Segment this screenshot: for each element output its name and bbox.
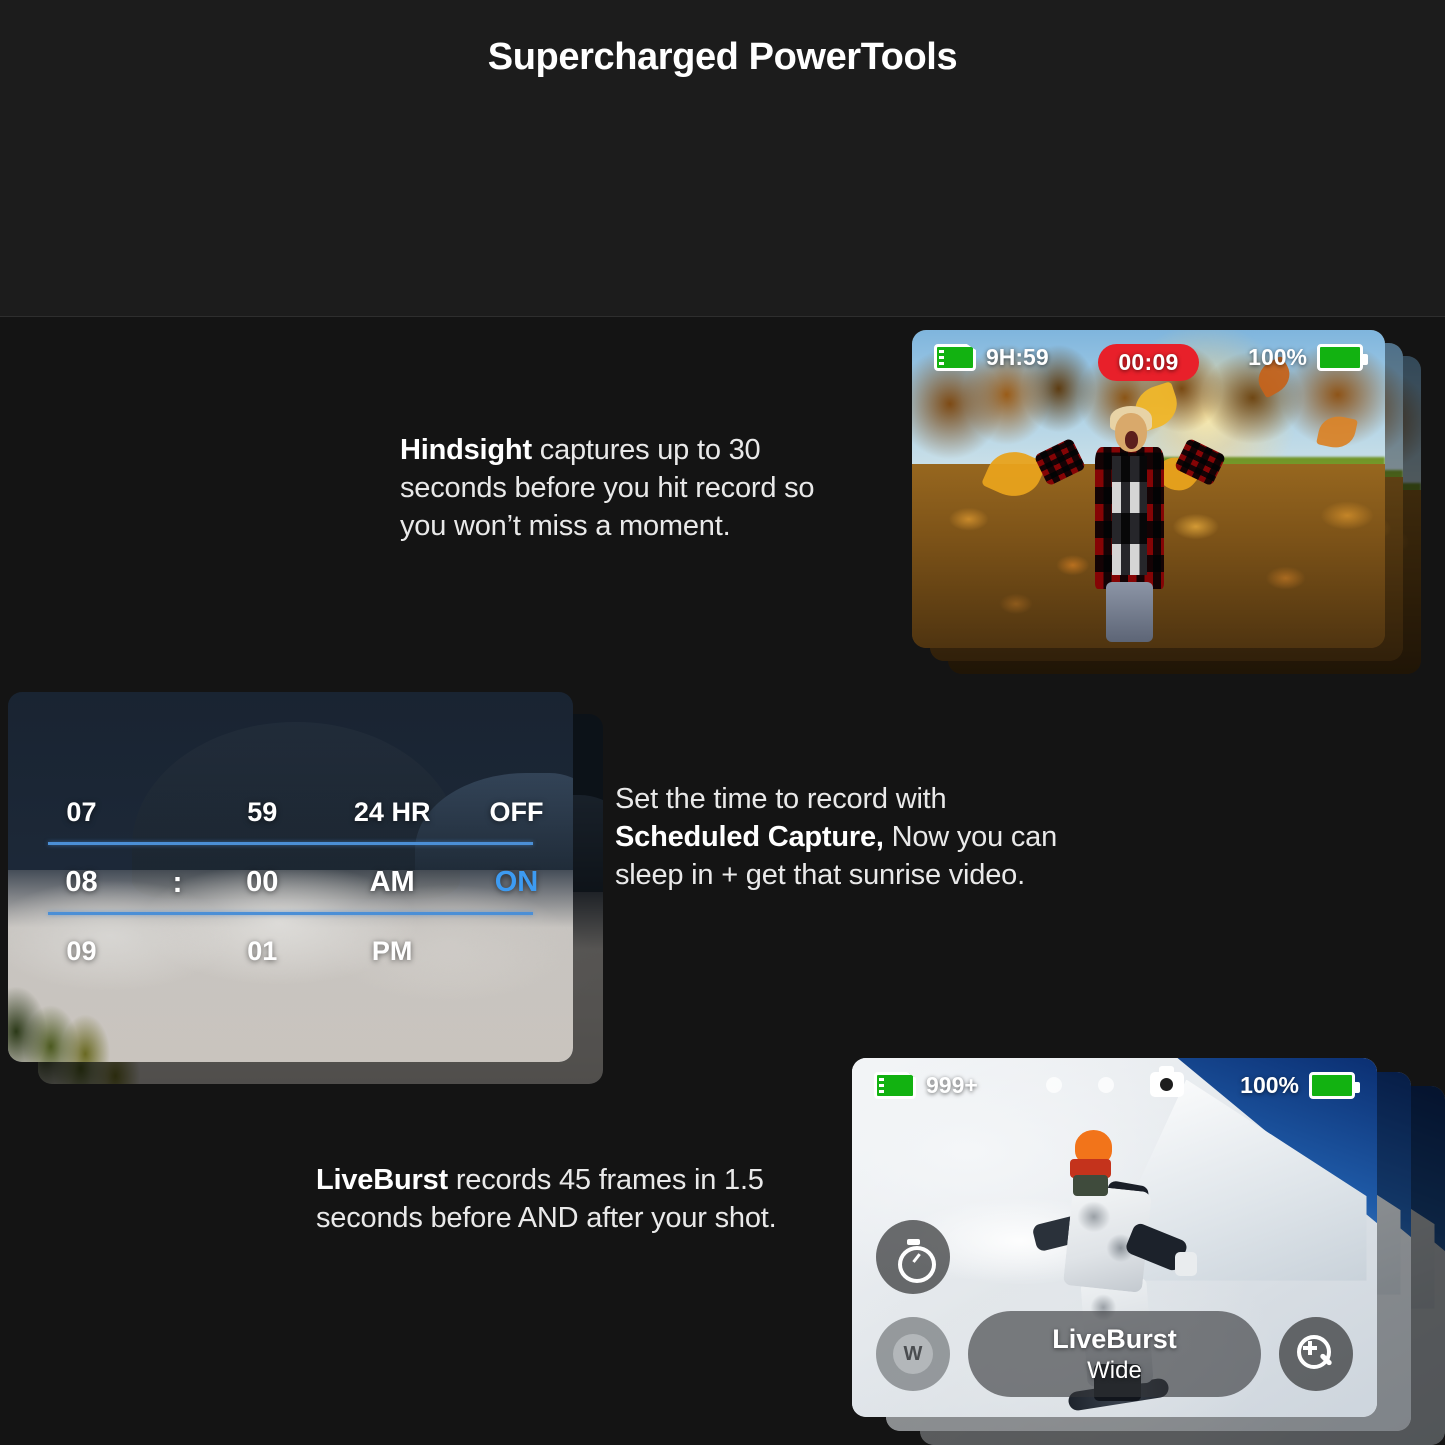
- hindsight-subject: [1068, 413, 1191, 642]
- liveburst-copy-bold: LiveBurst: [316, 1164, 448, 1196]
- header-band: Supercharged PowerTools: [0, 0, 1445, 317]
- capture-mode-subtitle: Wide: [1087, 1357, 1142, 1385]
- record-timer-badge: 00:09: [1098, 344, 1198, 381]
- hindsight-hud-top-bar: 9H:59 100% 00:09: [912, 330, 1385, 371]
- scheduled-capture-card-stack: 07 59 24 HR OFF 08 : 00 AM ON 09: [8, 692, 608, 1072]
- mode-dot-1-icon: [1046, 1077, 1062, 1093]
- picker-toggle-selected[interactable]: ON: [460, 866, 573, 899]
- picker-hour-selected[interactable]: 08: [8, 866, 155, 899]
- capture-mode-title: LiveBurst: [1052, 1324, 1177, 1355]
- liveburst-hud-bottom-bar: W LiveBurst Wide: [852, 1311, 1377, 1397]
- hindsight-copy: Hindsight captures up to 30 seconds befo…: [400, 431, 860, 545]
- liveburst-card-stack: 999+ 100%: [852, 1058, 1445, 1445]
- picker-minute-prev[interactable]: 59: [200, 797, 324, 828]
- zoom-in-icon: [1297, 1335, 1335, 1373]
- hindsight-card-stack: 9H:59 100% 00:09: [912, 330, 1442, 690]
- picker-colon-selected: :: [155, 866, 200, 900]
- picker-format-next[interactable]: PM: [324, 936, 460, 967]
- picker-hour-prev[interactable]: 07: [8, 797, 155, 828]
- picker-toggle-prev[interactable]: OFF: [460, 797, 573, 828]
- liveburst-mode-indicators: [852, 1072, 1377, 1097]
- scheduled-copy-pre: Set the time to record with: [615, 783, 946, 815]
- lens-button[interactable]: W: [876, 1317, 950, 1391]
- time-picker-row-previous[interactable]: 07 59 24 HR OFF: [8, 797, 573, 828]
- liveburst-copy: LiveBurst records 45 frames in 1.5 secon…: [316, 1161, 806, 1237]
- page-title: Supercharged PowerTools: [0, 36, 1445, 79]
- scheduled-capture-copy: Set the time to record with Scheduled Ca…: [615, 780, 1085, 894]
- scheduled-copy-bold: Scheduled Capture,: [615, 821, 884, 853]
- capture-mode-button[interactable]: LiveBurst Wide: [968, 1311, 1261, 1397]
- time-picker-row-selected[interactable]: 08 : 00 AM ON: [8, 866, 573, 900]
- picker-divider-bottom: [48, 912, 534, 915]
- picker-minute-selected[interactable]: 00: [200, 866, 324, 899]
- powertools-page: Supercharged PowerTools Hindsight captur…: [0, 0, 1445, 1445]
- picker-minute-next[interactable]: 01: [200, 936, 324, 967]
- mode-dot-2-icon: [1098, 1077, 1114, 1093]
- timer-button[interactable]: [876, 1220, 950, 1294]
- time-picker[interactable]: 07 59 24 HR OFF 08 : 00 AM ON 09: [8, 692, 573, 1062]
- picker-format-selected[interactable]: AM: [324, 866, 460, 899]
- hindsight-card-front[interactable]: 9H:59 100% 00:09: [912, 330, 1385, 648]
- picker-format-prev[interactable]: 24 HR: [324, 797, 460, 828]
- wide-lens-badge: W: [893, 1334, 933, 1374]
- liveburst-hud-top-bar: 999+ 100%: [852, 1058, 1377, 1099]
- liveburst-card-front[interactable]: 999+ 100%: [852, 1058, 1377, 1417]
- time-picker-row-next[interactable]: 09 01 PM: [8, 936, 573, 967]
- liveburst-timer-button-wrap: [876, 1220, 950, 1294]
- hindsight-record-timer-wrap: 00:09: [912, 344, 1385, 381]
- stopwatch-icon: [896, 1239, 930, 1275]
- camera-icon: [1150, 1072, 1184, 1097]
- hindsight-copy-bold: Hindsight: [400, 434, 532, 466]
- zoom-button[interactable]: [1279, 1317, 1353, 1391]
- picker-divider-top: [48, 842, 534, 845]
- picker-hour-next[interactable]: 09: [8, 936, 155, 967]
- scheduled-capture-card-front[interactable]: 07 59 24 HR OFF 08 : 00 AM ON 09: [8, 692, 573, 1062]
